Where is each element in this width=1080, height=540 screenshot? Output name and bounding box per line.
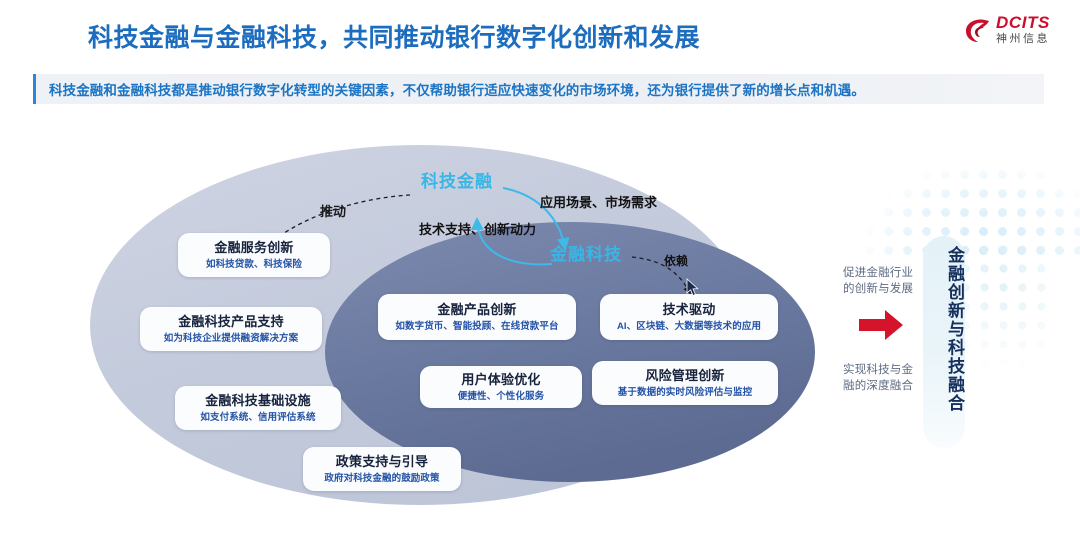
card-user-experience-optimization[interactable]: 用户体验优化 便捷性、个性化服务 <box>420 366 582 408</box>
right-arrow-icon <box>857 308 905 342</box>
card-title: 政策支持与引导 <box>336 454 428 470</box>
card-subtitle: 如数字货币、智能投顾、在线贷款平台 <box>395 321 558 332</box>
card-title: 技术驱动 <box>663 302 716 318</box>
card-fintech-infrastructure[interactable]: 金融科技基础设施 如支付系统、信用评估系统 <box>175 386 341 430</box>
note-promote-innovation: 促进金融行业的创新与发展 <box>843 266 921 297</box>
brand-logo: DCITS 神州信息 <box>965 14 1050 45</box>
card-title: 金融产品创新 <box>437 302 516 318</box>
label-fintech: 金融科技 <box>550 240 622 265</box>
label-edge-depend: 依赖 <box>664 252 688 269</box>
card-title: 金融科技产品支持 <box>178 314 284 330</box>
card-risk-management-innovation[interactable]: 风险管理创新 基于数据的实时风险评估与监控 <box>592 361 778 405</box>
card-subtitle: AI、区块链、大数据等技术的应用 <box>617 321 761 332</box>
card-fintech-product-support[interactable]: 金融科技产品支持 如为科技企业提供融资解决方案 <box>140 307 322 351</box>
logo-text: DCITS 神州信息 <box>996 14 1050 45</box>
slide-canvas: 科技金融与金融科技，共同推动银行数字化创新和发展 DCITS 神州信息 科技金融… <box>0 0 1080 540</box>
logo-en-text: DCITS <box>996 14 1050 31</box>
card-subtitle: 如科技贷款、科技保险 <box>206 259 302 270</box>
card-subtitle: 如为科技企业提供融资解决方案 <box>164 333 298 344</box>
logo-cn-text: 神州信息 <box>996 34 1050 45</box>
label-tech-finance: 科技金融 <box>421 167 493 192</box>
mouse-cursor <box>686 278 699 297</box>
card-title: 风险管理创新 <box>645 368 724 384</box>
card-policy-support[interactable]: 政策支持与引导 政府对科技金融的鼓励政策 <box>303 447 461 491</box>
dcits-swirl-icon <box>965 16 991 44</box>
card-financial-service-innovation[interactable]: 金融服务创新 如科技贷款、科技保险 <box>178 233 330 277</box>
card-title: 金融科技基础设施 <box>205 393 311 409</box>
subtitle-text: 科技金融和金融科技都是推动银行数字化转型的关键因素，不仅帮助银行适应快速变化的市… <box>36 79 865 99</box>
card-subtitle: 如支付系统、信用评估系统 <box>200 412 315 423</box>
card-subtitle: 基于数据的实时风险评估与监控 <box>618 387 752 398</box>
label-edge-scenario: 应用场景、市场需求 <box>540 192 657 211</box>
card-title: 金融服务创新 <box>214 240 293 256</box>
note-deep-integration: 实现科技与金融的深度融合 <box>843 363 921 394</box>
label-edge-support: 技术支持、创新动力 <box>419 219 536 238</box>
card-subtitle: 便捷性、个性化服务 <box>458 391 544 402</box>
card-subtitle: 政府对科技金融的鼓励政策 <box>324 473 439 484</box>
subtitle-banner: 科技金融和金融科技都是推动银行数字化转型的关键因素，不仅帮助银行适应快速变化的市… <box>33 74 1044 104</box>
vertical-title-text: 金融创新与科技融合 <box>925 246 963 436</box>
page-title: 科技金融与金融科技，共同推动银行数字化创新和发展 <box>88 18 700 54</box>
card-financial-product-innovation[interactable]: 金融产品创新 如数字货币、智能投顾、在线贷款平台 <box>378 294 576 340</box>
label-edge-drive: 推动 <box>320 201 346 220</box>
card-technology-driven[interactable]: 技术驱动 AI、区块链、大数据等技术的应用 <box>600 294 778 340</box>
card-title: 用户体验优化 <box>461 372 540 388</box>
